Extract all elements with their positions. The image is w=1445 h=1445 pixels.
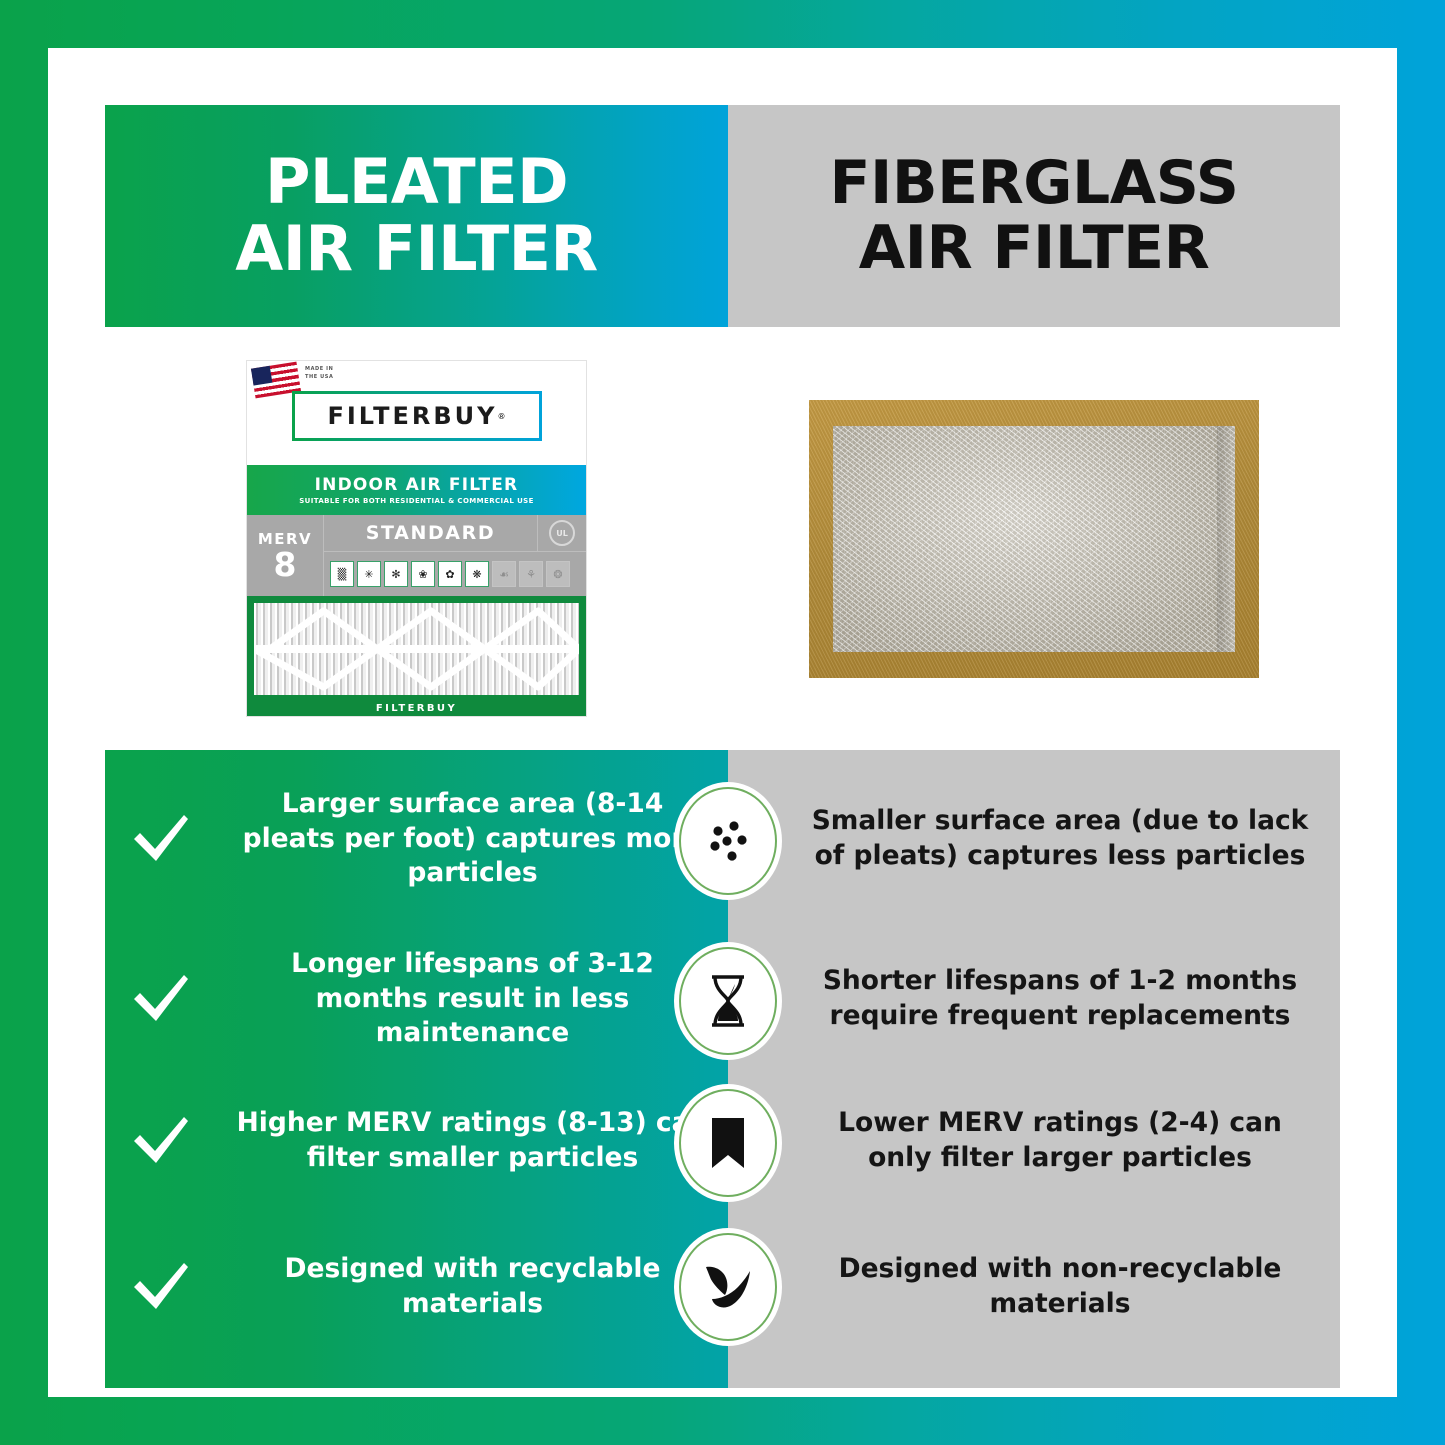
infographic-frame: PLEATED AIR FILTER FIBERGLASS AIR FILTER bbox=[0, 0, 1445, 1445]
fiberglass-product-cell bbox=[728, 327, 1340, 750]
box-top-section: MADE IN THE USA FILTERBUY® bbox=[247, 361, 586, 465]
bacteria-icon: ⚘ bbox=[519, 561, 543, 587]
header-pleated-line2: AIR FILTER bbox=[235, 212, 597, 285]
particles-icon bbox=[679, 787, 777, 895]
mold-icon: ✻ bbox=[384, 561, 408, 587]
bookmark-icon bbox=[679, 1089, 777, 1197]
pleat-media-texture bbox=[254, 603, 579, 695]
made-in-usa-text: MADE IN THE USA bbox=[305, 366, 333, 381]
ul-certification-mark: UL bbox=[537, 515, 586, 551]
merv-value: 8 bbox=[274, 548, 297, 581]
smoke-icon: ☙ bbox=[492, 561, 516, 587]
pleated-product-cell: MADE IN THE USA FILTERBUY® INDOOR AIR FI… bbox=[105, 327, 728, 750]
leaf-icon bbox=[679, 1233, 777, 1341]
box-footer-brand: FILTERBUY bbox=[254, 695, 579, 717]
header-row: PLEATED AIR FILTER FIBERGLASS AIR FILTER bbox=[105, 105, 1340, 327]
checkmark-icon bbox=[130, 1259, 192, 1315]
grade-label: STANDARD bbox=[324, 522, 537, 544]
row-pleated-text: Higher MERV ratings (8-13) can filter sm… bbox=[217, 1106, 728, 1176]
grade-row: STANDARD UL bbox=[324, 515, 586, 552]
filterbuy-box-image: MADE IN THE USA FILTERBUY® INDOOR AIR FI… bbox=[246, 360, 587, 717]
ul-icon: UL bbox=[549, 520, 575, 546]
merv-spec-band: MERV 8 STANDARD UL ▒ bbox=[247, 515, 586, 596]
merv-right-section: STANDARD UL ▒ ✳ ✻ ❀ ✿ bbox=[324, 515, 586, 596]
row-fiberglass-text: Smaller surface area (due to lack of ple… bbox=[728, 804, 1340, 874]
pleated-media-section: FILTERBUY bbox=[247, 596, 586, 717]
trademark-symbol: ® bbox=[498, 412, 506, 421]
filterbuy-logo: FILTERBUY® bbox=[292, 391, 542, 441]
header-pleated-line1: PLEATED bbox=[265, 145, 568, 218]
row-pleated-text: Designed with recyclable materials bbox=[217, 1252, 728, 1322]
check-cell bbox=[105, 811, 217, 867]
row-pleated-text: Larger surface area (8-14 pleats per foo… bbox=[217, 787, 728, 892]
product-row: MADE IN THE USA FILTERBUY® INDOOR AIR FI… bbox=[105, 327, 1340, 750]
indoor-air-filter-band: INDOOR AIR FILTER SUITABLE FOR BOTH RESI… bbox=[247, 465, 586, 515]
virus-icon: ❂ bbox=[546, 561, 570, 587]
infographic-canvas: PLEATED AIR FILTER FIBERGLASS AIR FILTER bbox=[48, 48, 1397, 1397]
band-subtitle: SUITABLE FOR BOTH RESIDENTIAL & COMMERCI… bbox=[299, 497, 534, 505]
checkmark-icon bbox=[130, 811, 192, 867]
dust-icon: ▒ bbox=[330, 561, 354, 587]
band-title: INDOOR AIR FILTER bbox=[315, 475, 519, 495]
comparison-rows: Larger surface area (8-14 pleats per foo… bbox=[105, 750, 1340, 1388]
comparison-section: Larger surface area (8-14 pleats per foo… bbox=[105, 750, 1340, 1388]
check-cell bbox=[105, 1113, 217, 1169]
header-pleated: PLEATED AIR FILTER bbox=[105, 105, 728, 327]
pet-dander-icon: ❋ bbox=[465, 561, 489, 587]
hourglass-icon bbox=[679, 947, 777, 1055]
made-in-line1: MADE IN bbox=[305, 366, 333, 374]
fiberglass-filter-image bbox=[809, 400, 1259, 678]
support-grid-icon bbox=[254, 603, 579, 695]
fiberglass-media bbox=[833, 426, 1235, 652]
header-fiberglass-line1: FIBERGLASS bbox=[830, 148, 1239, 218]
pollen-icon: ❀ bbox=[411, 561, 435, 587]
row-fiberglass-text: Lower MERV ratings (2-4) can only filter… bbox=[728, 1106, 1340, 1176]
made-in-line2: THE USA bbox=[305, 374, 333, 382]
lint-icon: ✳ bbox=[357, 561, 381, 587]
filterbuy-brand-text: FILTERBUY bbox=[327, 402, 497, 430]
checkmark-icon bbox=[130, 971, 192, 1027]
row-fiberglass-text: Designed with non-recyclable materials bbox=[728, 1252, 1340, 1322]
check-cell bbox=[105, 971, 217, 1027]
row-fiberglass-text: Shorter lifespans of 1-2 months require … bbox=[728, 964, 1340, 1034]
header-fiberglass-line2: AIR FILTER bbox=[859, 213, 1210, 283]
captured-particle-icons: ▒ ✳ ✻ ❀ ✿ ❋ ☙ ⚘ ❂ bbox=[324, 552, 586, 596]
check-cell bbox=[105, 1259, 217, 1315]
fiberglass-frame-lip bbox=[1217, 426, 1235, 652]
dust-mite-icon: ✿ bbox=[438, 561, 462, 587]
row-pleated-text: Longer lifespans of 3-12 months result i… bbox=[217, 947, 728, 1052]
merv-badge: MERV 8 bbox=[247, 515, 324, 596]
header-fiberglass: FIBERGLASS AIR FILTER bbox=[728, 105, 1340, 327]
checkmark-icon bbox=[130, 1113, 192, 1169]
